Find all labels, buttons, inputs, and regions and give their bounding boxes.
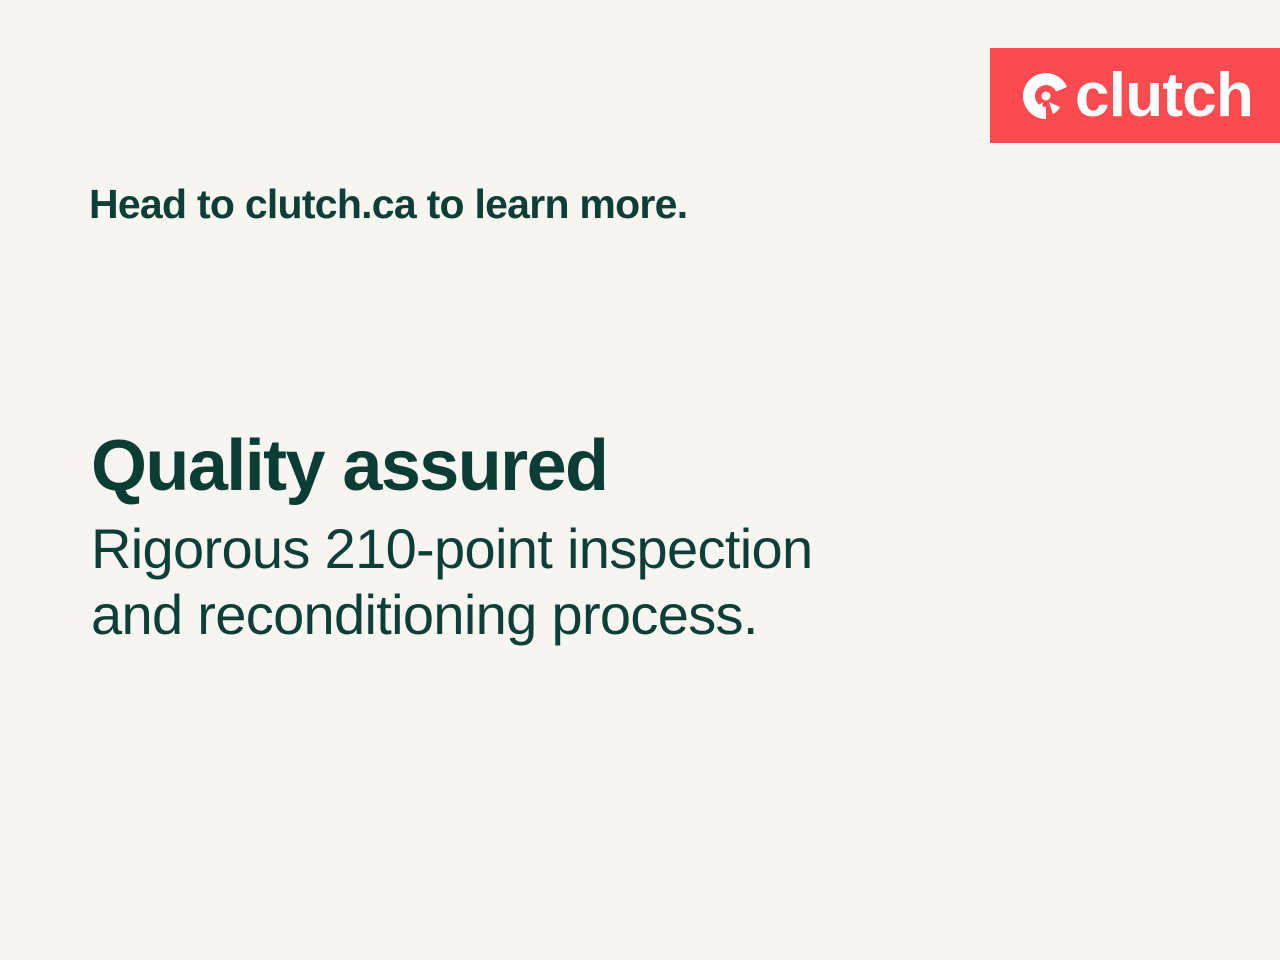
subheading-line-2: and reconditioning process.	[91, 582, 971, 648]
subheading: Rigorous 210-point inspection and recond…	[91, 516, 971, 647]
message-block: Quality assured Rigorous 210-point inspe…	[91, 430, 1091, 647]
promo-slide: clutch Head to clutch.ca to learn more. …	[0, 0, 1280, 960]
page-title: Quality assured	[91, 430, 1091, 502]
clutch-logo-badge[interactable]: clutch	[990, 48, 1280, 143]
cta-text: Head to clutch.ca to learn more.	[89, 180, 687, 228]
clutch-c-wheel-icon	[1021, 71, 1071, 121]
brand-lockup: clutch	[1021, 65, 1253, 127]
subheading-line-1: Rigorous 210-point inspection	[91, 516, 971, 582]
clutch-wordmark: clutch	[1075, 65, 1253, 127]
